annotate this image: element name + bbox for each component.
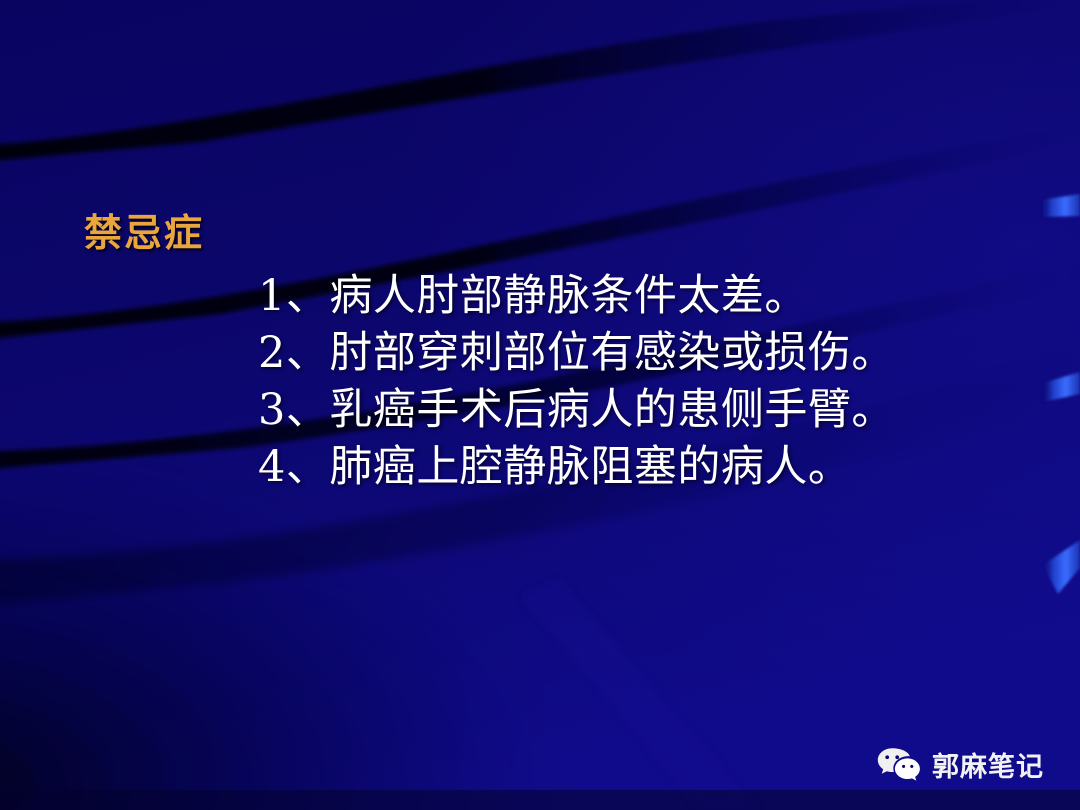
watermark-label: 郭麻笔记 bbox=[932, 745, 1044, 784]
wechat-icon bbox=[877, 747, 921, 783]
list-item-number: 4、 bbox=[258, 439, 329, 496]
contraindication-list: 1、病人肘部静脉条件太差。 2、肘部穿刺部位有感染或损伤。 3、乳癌手术后病人的… bbox=[258, 268, 895, 496]
list-item: 3、乳癌手术后病人的患侧手臂。 bbox=[258, 382, 895, 439]
watermark: 郭麻笔记 bbox=[877, 745, 1044, 784]
list-item-number: 1、 bbox=[258, 268, 329, 325]
list-item-text: 乳癌手术后病人的患侧手臂。 bbox=[329, 385, 895, 435]
page-title: 禁忌症 bbox=[84, 213, 204, 254]
list-item-number: 2、 bbox=[258, 325, 329, 382]
list-item: 1、病人肘部静脉条件太差。 bbox=[258, 268, 895, 325]
list-item-text: 病人肘部静脉条件太差。 bbox=[329, 271, 808, 321]
list-item: 2、肘部穿刺部位有感染或损伤。 bbox=[258, 325, 895, 382]
list-item-number: 3、 bbox=[258, 382, 329, 439]
list-item-text: 肘部穿刺部位有感染或损伤。 bbox=[329, 328, 895, 378]
presentation-slide: 禁忌症 1、病人肘部静脉条件太差。 2、肘部穿刺部位有感染或损伤。 3、乳癌手术… bbox=[0, 0, 1080, 810]
list-item-text: 肺癌上腔静脉阻塞的病人。 bbox=[329, 442, 851, 492]
slide-content: 禁忌症 1、病人肘部静脉条件太差。 2、肘部穿刺部位有感染或损伤。 3、乳癌手术… bbox=[0, 0, 1080, 810]
list-item: 4、肺癌上腔静脉阻塞的病人。 bbox=[258, 439, 895, 496]
